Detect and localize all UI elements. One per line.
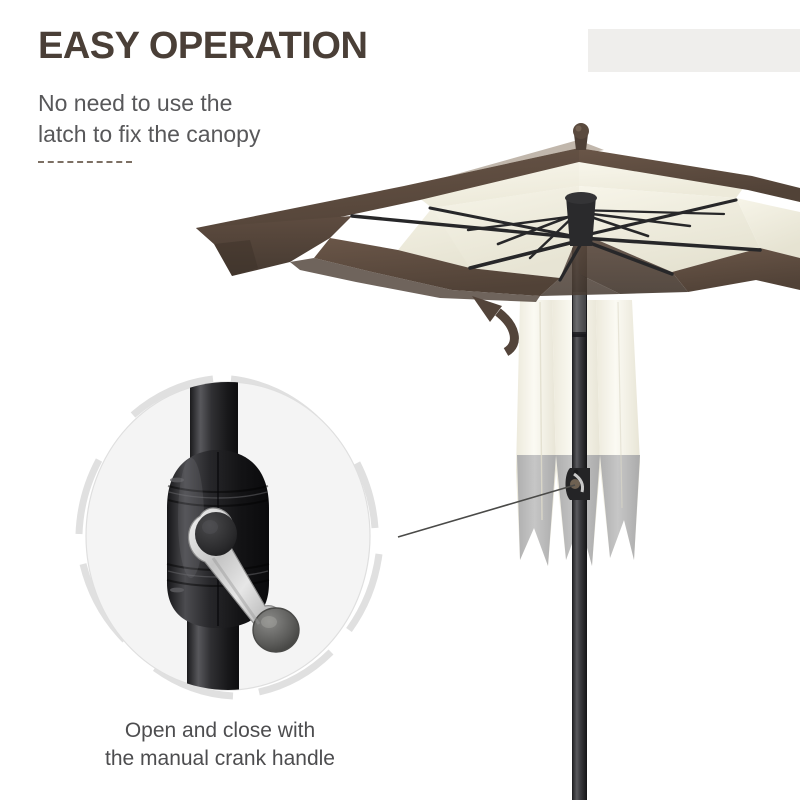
page-subtitle: No need to use the latch to fix the cano… <box>38 88 458 149</box>
callout-leader-line <box>398 485 575 537</box>
crank-detail-inset <box>63 368 393 716</box>
dashed-divider <box>38 161 132 163</box>
umbrella-canopy <box>196 123 800 302</box>
inset-caption-line-1: Open and close with <box>0 717 440 745</box>
pole-crank-mechanism <box>566 468 591 500</box>
canopy-open-direction-arrow <box>472 296 514 352</box>
page-title: EASY OPERATION <box>38 26 458 67</box>
umbrella-hanging-skirt <box>516 300 640 566</box>
corner-color-swatch <box>588 29 800 72</box>
page-subtitle-line-2: latch to fix the canopy <box>38 119 458 150</box>
inset-caption: Open and close with the manual crank han… <box>0 717 440 773</box>
inset-caption-line-2: the manual crank handle <box>0 745 440 773</box>
infographic-canvas: EASY OPERATION No need to use the latch … <box>0 0 800 800</box>
umbrella-pole <box>572 210 587 800</box>
page-subtitle-line-1: No need to use the <box>38 88 458 119</box>
